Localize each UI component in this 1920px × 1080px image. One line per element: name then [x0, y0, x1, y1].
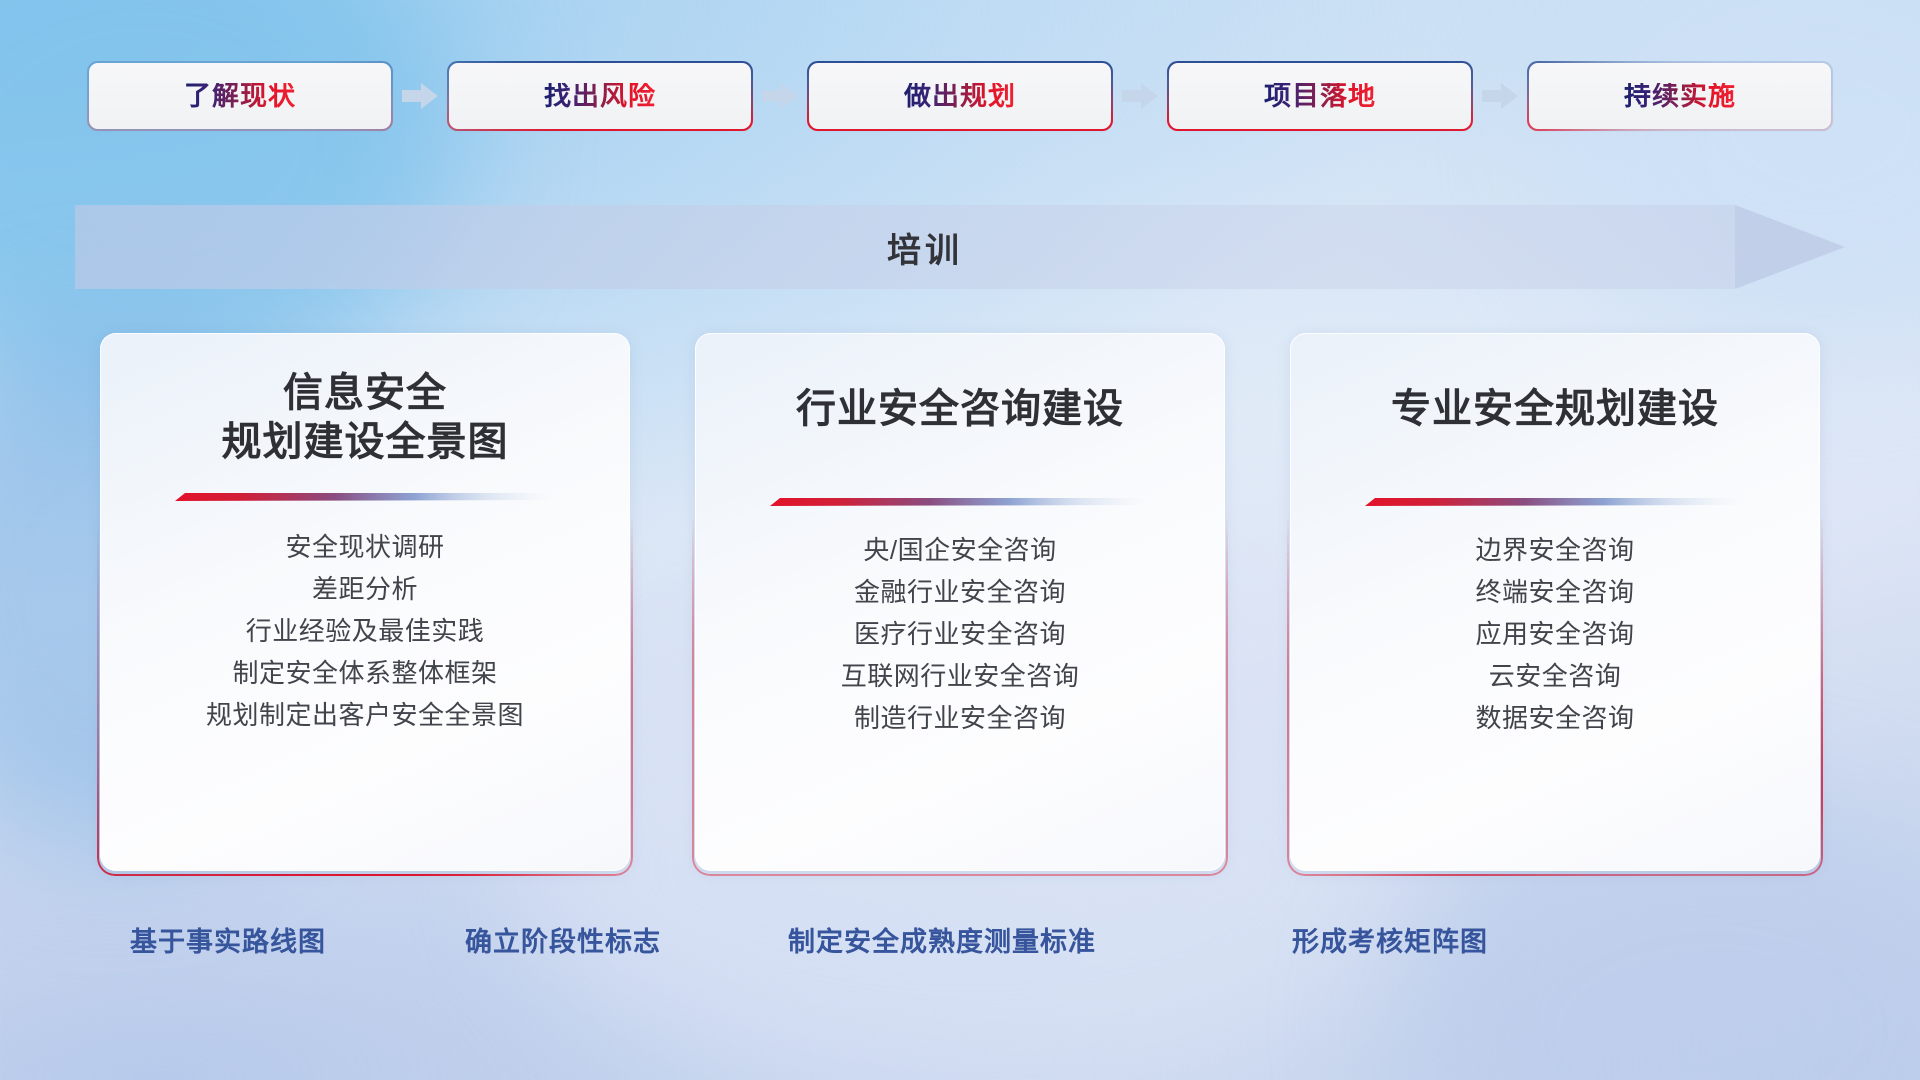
card-info-security-panorama[interactable]: 信息安全 规划建设全景图 安全现状调研 差距分析 行 [100, 333, 630, 871]
background-blob-top-right [1560, 0, 1920, 340]
band-label: 培训 [75, 205, 1775, 289]
list-item: 医疗行业安全咨询 [854, 614, 1066, 655]
card-row: 信息安全 规划建设全景图 安全现状调研 差距分析 行 [0, 333, 1920, 881]
step-label: 了解现状 [184, 83, 296, 110]
list-item: 数据安全咨询 [1475, 698, 1634, 739]
step-box-4[interactable]: 项目落地 [1169, 63, 1471, 129]
step-box-3[interactable]: 做出规划 [809, 63, 1111, 129]
footer-label-matrix: 形成考核矩阵图 [1292, 920, 1488, 959]
list-item: 互联网行业安全咨询 [841, 656, 1080, 697]
right-arrow-icon [1111, 74, 1169, 118]
step-box-2[interactable]: 找出风险 [449, 63, 751, 129]
step-box-1[interactable]: 了解现状 [89, 63, 391, 129]
step-label: 做出规划 [904, 83, 1016, 110]
step-label: 持续实施 [1624, 83, 1736, 110]
card-divider [1365, 494, 1745, 508]
list-item: 制造行业安全咨询 [854, 698, 1066, 739]
list-item: 金融行业安全咨询 [854, 572, 1066, 613]
footer-label-roadmap: 基于事实路线图 [130, 920, 326, 959]
footer-label-milestone: 确立阶段性标志 [465, 920, 661, 959]
list-item: 终端安全咨询 [1475, 572, 1634, 613]
list-item: 规划制定出客户安全全景图 [206, 695, 524, 736]
list-item: 差距分析 [312, 569, 418, 610]
footer-label-maturity: 制定安全成熟度测量标准 [788, 920, 1096, 959]
card-divider [175, 489, 555, 503]
card-item-list: 央/国企安全咨询 金融行业安全咨询 医疗行业安全咨询 互联网行业安全咨询 制造行… [841, 530, 1080, 739]
card-title: 信息安全 规划建设全景图 [222, 369, 509, 467]
card-title: 专业安全规划建设 [1391, 385, 1719, 434]
card-item-list: 边界安全咨询 终端安全咨询 应用安全咨询 云安全咨询 数据安全咨询 [1475, 530, 1634, 739]
footer-label-row: 基于事实路线图 确立阶段性标志 制定安全成熟度测量标准 形成考核矩阵图 [0, 920, 1920, 968]
list-item: 央/国企安全咨询 [863, 530, 1056, 571]
card-industry-security-consulting[interactable]: 行业安全咨询建设 央/国企安全咨询 金融行业安全咨询 [695, 333, 1225, 871]
list-item: 云安全咨询 [1489, 656, 1622, 697]
right-arrow-icon [1471, 74, 1529, 118]
right-arrow-icon [391, 74, 449, 118]
card-title: 行业安全咨询建设 [796, 385, 1124, 434]
list-item: 行业经验及最佳实践 [246, 611, 485, 652]
list-item: 应用安全咨询 [1475, 614, 1634, 655]
training-band: 培训 [75, 205, 1845, 289]
list-item: 边界安全咨询 [1475, 530, 1634, 571]
card-divider [770, 494, 1150, 508]
list-item: 安全现状调研 [285, 527, 444, 568]
process-step-row: 了解现状 找出风险 做出规划 项目落地 持续实施 [0, 62, 1920, 130]
right-arrow-icon [751, 74, 809, 118]
step-label: 找出风险 [544, 83, 656, 110]
step-label: 项目落地 [1264, 83, 1376, 110]
step-box-5[interactable]: 持续实施 [1529, 63, 1831, 129]
card-professional-security-planning[interactable]: 专业安全规划建设 边界安全咨询 终端安全咨询 应用安 [1290, 333, 1820, 871]
card-item-list: 安全现状调研 差距分析 行业经验及最佳实践 制定安全体系整体框架 规划制定出客户… [206, 527, 524, 736]
list-item: 制定安全体系整体框架 [232, 653, 497, 694]
